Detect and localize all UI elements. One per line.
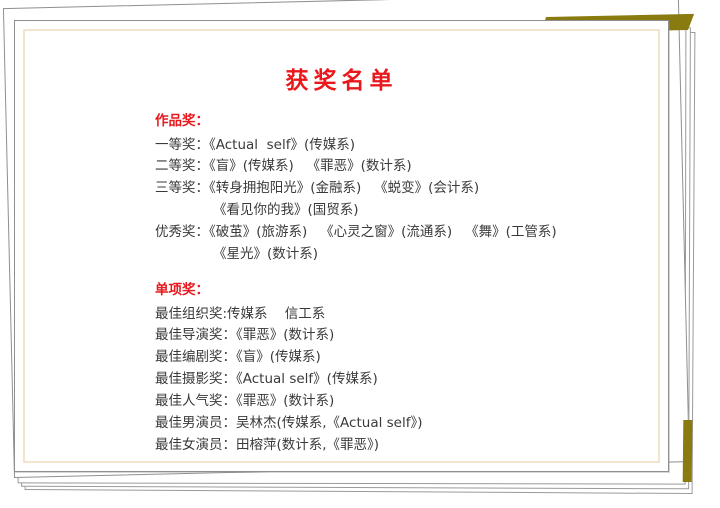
award-line-best-director: 最佳导演奖：《罪恶》(数计系) — [45, 325, 638, 347]
certificate-stage: 获奖名单 作品奖： 一等奖：《Actual self》(传媒系) 二等奖：《盲》… — [0, 0, 720, 508]
gold-wedge-right — [683, 420, 693, 482]
section-heading-works: 作品奖： — [45, 111, 638, 132]
page-title: 获奖名单 — [45, 67, 638, 95]
award-line-third-prize: 三等奖：《转身拥抱阳光》(金融系) 《蜕变》(会计系) — [45, 178, 638, 200]
award-line-excellence-cont: 《星光》(数计系) — [45, 244, 638, 266]
award-line-best-actor: 最佳男演员：吴林杰(传媒系,《Actual self》) — [45, 413, 638, 435]
certificate-content: 获奖名单 作品奖： 一等奖：《Actual self》(传媒系) 二等奖：《盲》… — [15, 21, 668, 471]
award-line-best-actress: 最佳女演员：田榕萍(数计系,《罪恶》) — [45, 435, 638, 457]
award-line-best-cinematography: 最佳摄影奖：《Actual self》(传媒系) — [45, 369, 638, 391]
certificate-page: 获奖名单 作品奖： 一等奖：《Actual self》(传媒系) 二等奖：《盲》… — [14, 20, 669, 472]
award-line-best-popularity: 最佳人气奖：《罪恶》(数计系) — [45, 391, 638, 413]
award-line-excellence: 优秀奖：《破茧》(旅游系) 《心灵之窗》(流通系) 《舞》(工管系) — [45, 222, 638, 244]
section-individual-award: 单项奖： 最佳组织奖:传媒系 信工系 最佳导演奖：《罪恶》(数计系) 最佳编剧奖… — [45, 280, 638, 457]
award-line-third-prize-cont: 《看见你的我》(国贸系) — [45, 200, 638, 222]
award-line-best-screenplay: 最佳编剧奖：《盲》(传媒系) — [45, 347, 638, 369]
award-line-second-prize: 二等奖：《盲》(传媒系) 《罪恶》(数计系) — [45, 156, 638, 178]
section-works-award: 作品奖： 一等奖：《Actual self》(传媒系) 二等奖：《盲》(传媒系)… — [45, 111, 638, 266]
section-heading-individual: 单项奖： — [45, 280, 638, 301]
award-line-best-organization: 最佳组织奖:传媒系 信工系 — [45, 304, 638, 326]
award-line-first-prize: 一等奖：《Actual self》(传媒系) — [45, 135, 638, 157]
